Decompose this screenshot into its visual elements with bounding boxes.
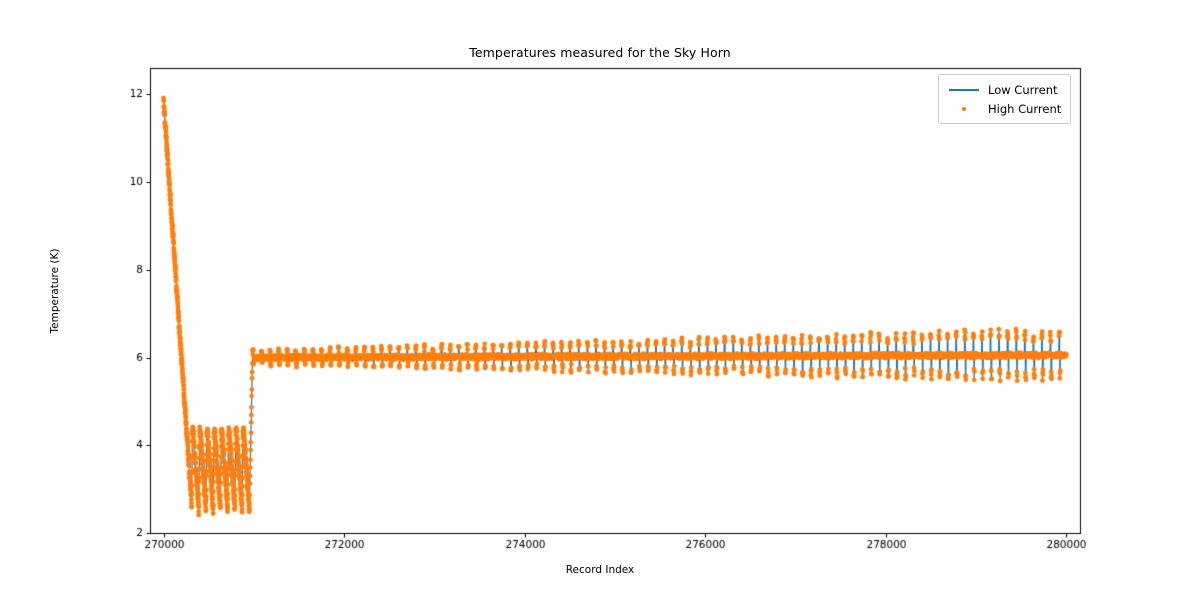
legend-label-low-current: Low Current — [988, 83, 1058, 97]
x-axis-label: Record Index — [0, 564, 1200, 576]
legend-line-icon — [947, 89, 981, 91]
legend-item-low-current[interactable]: Low Current — [947, 80, 1061, 99]
legend-item-high-current[interactable]: High Current — [947, 99, 1061, 118]
chart-figure: Temperatures measured for the Sky Horn R… — [0, 0, 1200, 600]
chart-title: Temperatures measured for the Sky Horn — [0, 45, 1200, 60]
y-axis-label: Temperature (K) — [49, 181, 61, 401]
chart-legend: Low Current High Current — [938, 74, 1071, 124]
legend-label-high-current: High Current — [988, 102, 1061, 116]
legend-dot-icon — [947, 107, 981, 111]
